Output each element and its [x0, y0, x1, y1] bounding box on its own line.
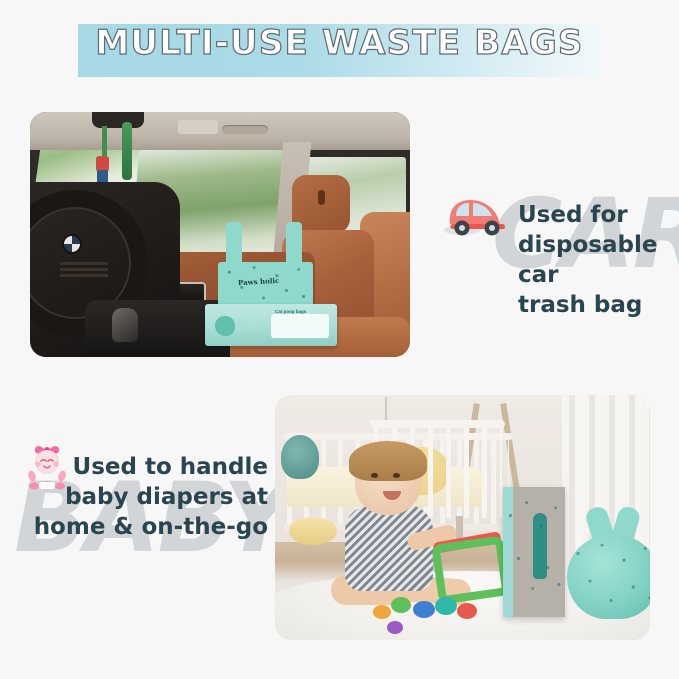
baby-photo [275, 395, 650, 640]
bmw-logo-icon [62, 234, 82, 254]
rearview-mirror [92, 112, 144, 128]
baby-eye-right [393, 473, 400, 478]
floor-cushion [289, 517, 337, 545]
bag-filled-body [567, 535, 650, 619]
product-box: Cat poop bags [205, 304, 337, 346]
car-photo: Paws holic Cat poop bags [30, 112, 410, 357]
baby-caption-line-3: home & on-the-go [0, 512, 268, 542]
plush-toy-teal [281, 435, 319, 479]
baby-eye-left [371, 473, 378, 478]
grab-handle [222, 125, 268, 134]
baby-caption-line-2: baby diapers at [0, 482, 268, 512]
car-caption-line-1: Used for [518, 200, 679, 230]
sunroof-control [178, 120, 218, 134]
car-caption-line-3: trash bag [518, 290, 679, 320]
infographic-page: MULTI-USE WASTE BAGS [0, 0, 679, 679]
car-interior-scene: Paws holic Cat poop bags [30, 112, 410, 357]
box-label-text: Cat poop bags [275, 309, 306, 314]
hanging-charm-icon [102, 126, 114, 186]
product-box-baby [503, 487, 565, 617]
baby-caption: Used to handle baby diapers at home & on… [0, 452, 268, 542]
box-label-panel [271, 314, 329, 338]
baby-caption-line-1: Used to handle [0, 452, 268, 482]
gear-shifter [112, 308, 138, 342]
box-graphic [215, 316, 235, 336]
box-doodle-pattern [503, 487, 565, 617]
nursery-scene [275, 395, 650, 640]
tied-waste-bag [567, 507, 650, 619]
car-caption: Used for disposable car trash bag [518, 200, 679, 320]
headrest-notch [318, 190, 325, 205]
floor-toys [371, 591, 501, 627]
car-caption-line-2: disposable car [518, 230, 679, 290]
car-roof [30, 112, 410, 150]
air-vents [60, 262, 108, 278]
hanging-charm-second-icon [122, 122, 132, 180]
car-icon [444, 194, 514, 238]
page-title: MULTI-USE WASTE BAGS [0, 23, 679, 63]
product-waste-bag: Paws holic [218, 222, 313, 308]
tied-bag-doodle-pattern [567, 535, 650, 619]
baby-hair [349, 441, 427, 481]
